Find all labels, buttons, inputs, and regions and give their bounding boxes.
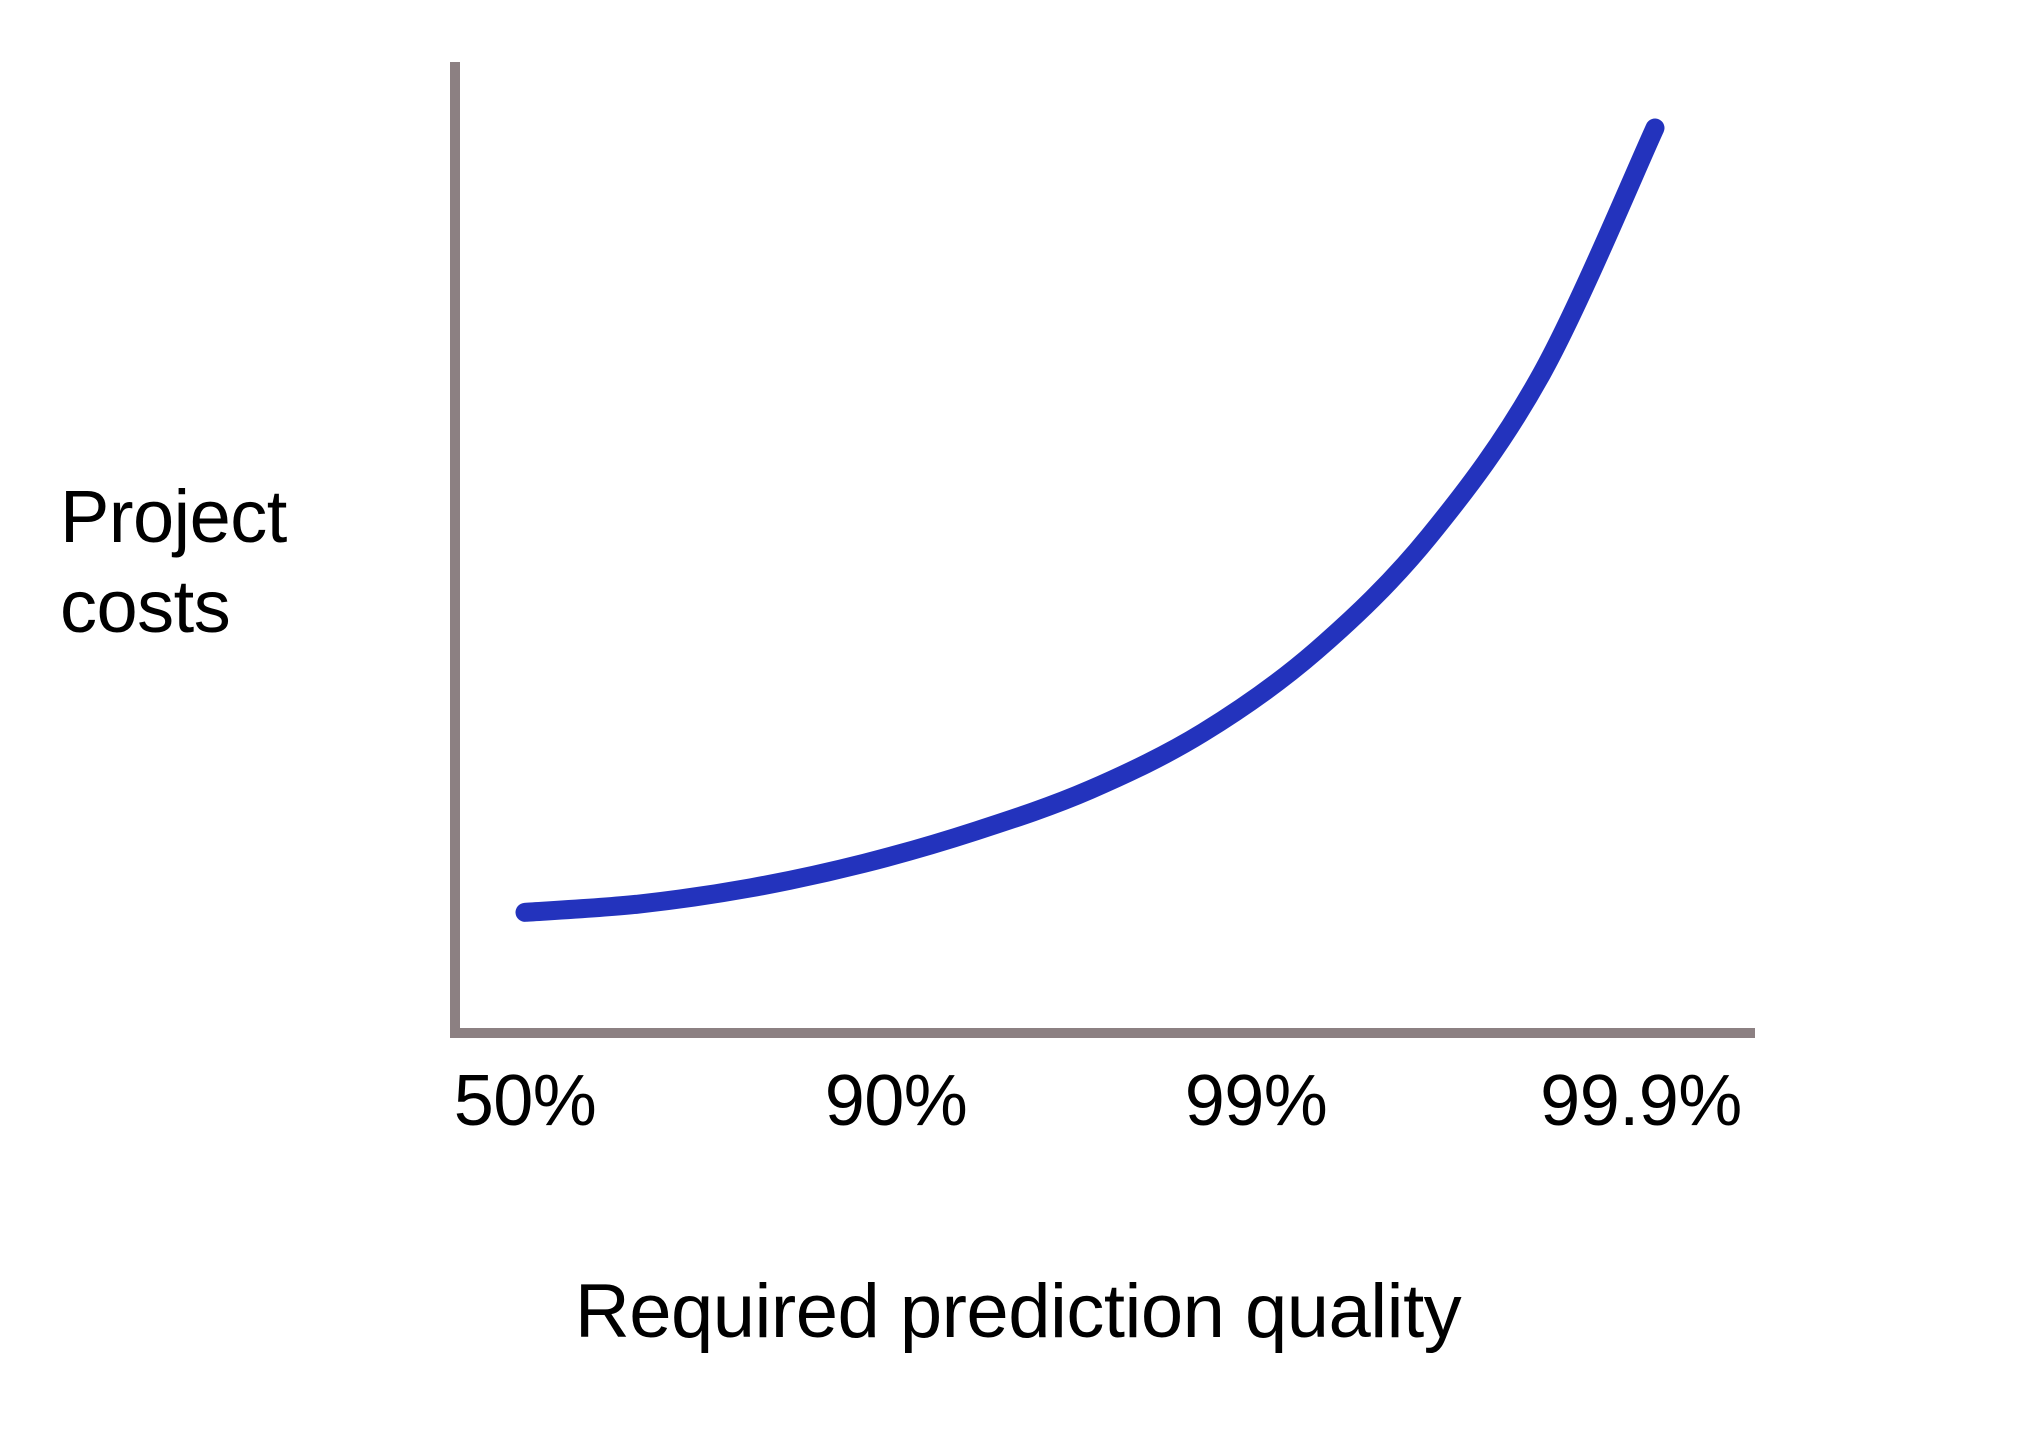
x-axis-tick-labels: 50% 90% 99% 99.9% <box>0 1056 2036 1146</box>
x-tick-label-50: 50% <box>454 1056 597 1146</box>
cost-curve-line <box>525 128 1655 912</box>
x-tick-label-90: 90% <box>825 1056 968 1146</box>
y-axis-title: Project costs <box>60 472 420 653</box>
plot-area <box>0 0 2036 1444</box>
x-axis-title: Required prediction quality <box>0 1270 2036 1354</box>
x-tick-label-99-9: 99.9% <box>1540 1056 1742 1146</box>
chart-container: Project costs 50% 90% 99% 99.9% Required… <box>0 0 2036 1444</box>
x-tick-label-99: 99% <box>1185 1056 1328 1146</box>
